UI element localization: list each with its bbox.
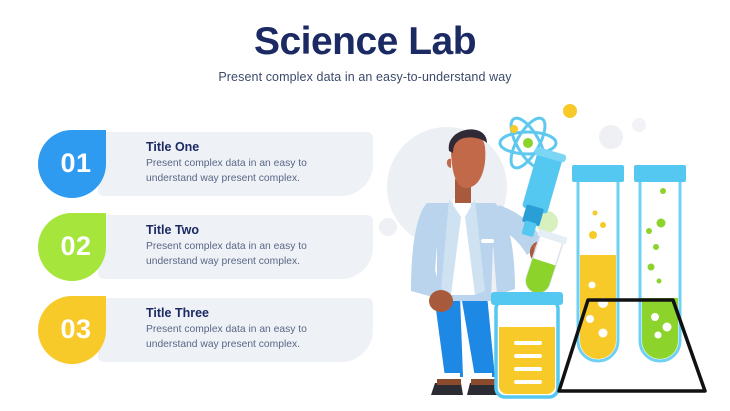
beaker [491,292,563,397]
list-item-text: Title Two Present complex data in an eas… [146,223,361,269]
test-tube-green [634,165,686,361]
list-item[interactable]: 03 Title Three Present complex data in a… [38,296,373,364]
list-item-title: Title Two [146,223,361,237]
decorative-circle-icon [632,118,646,132]
list-item[interactable]: 02 Title Two Present complex data in an … [38,213,373,281]
fist-left [429,290,453,312]
coat-pocket [481,239,494,243]
shoe-right-trim [471,379,495,385]
beaker-rim [491,292,563,305]
page-subtitle: Present complex data in an easy-to-under… [0,70,730,84]
beaker-mark [514,380,542,384]
test-tube-green-liquid [642,298,678,359]
list-item[interactable]: 01 Title One Present complex data in an … [38,130,373,198]
beaker-mark [514,354,542,358]
atom-floating-dot-icon [563,104,577,118]
test-tube-yellow-cap [572,165,624,182]
list-item-description: Present complex data in an easy to under… [146,323,361,352]
list-item-badge-3: 03 [38,296,106,364]
list-item-text: Title One Present complex data in an eas… [146,140,361,186]
page-title: Science Lab [0,22,730,63]
science-lab-illustration [375,95,730,411]
list-item-number: 02 [60,231,91,262]
leg-right [461,295,495,377]
list-item-text: Title Three Present complex data in an e… [146,306,361,352]
list-item-description: Present complex data in an easy to under… [146,240,361,269]
header: Science Lab Present complex data in an e… [0,22,730,84]
list-item-number: 01 [60,148,91,179]
list-item-title: Title One [146,140,361,154]
infographic-list: 01 Title One Present complex data in an … [38,130,373,379]
list-item-title: Title Three [146,306,361,320]
decorative-circle-icon [599,125,623,149]
slide-canvas: Science Lab Present complex data in an e… [0,0,730,411]
decorative-circle-icon [379,218,397,236]
list-item-badge-1: 01 [38,130,106,198]
list-item-description: Present complex data in an easy to under… [146,157,361,186]
list-item-badge-2: 02 [38,213,106,281]
beaker-mark [514,367,542,371]
shoe-left-trim [437,379,461,385]
beaker-mark [514,341,542,345]
test-tube-yellow [572,165,624,361]
test-tube-green-cap [634,165,686,182]
list-item-number: 03 [60,314,91,345]
